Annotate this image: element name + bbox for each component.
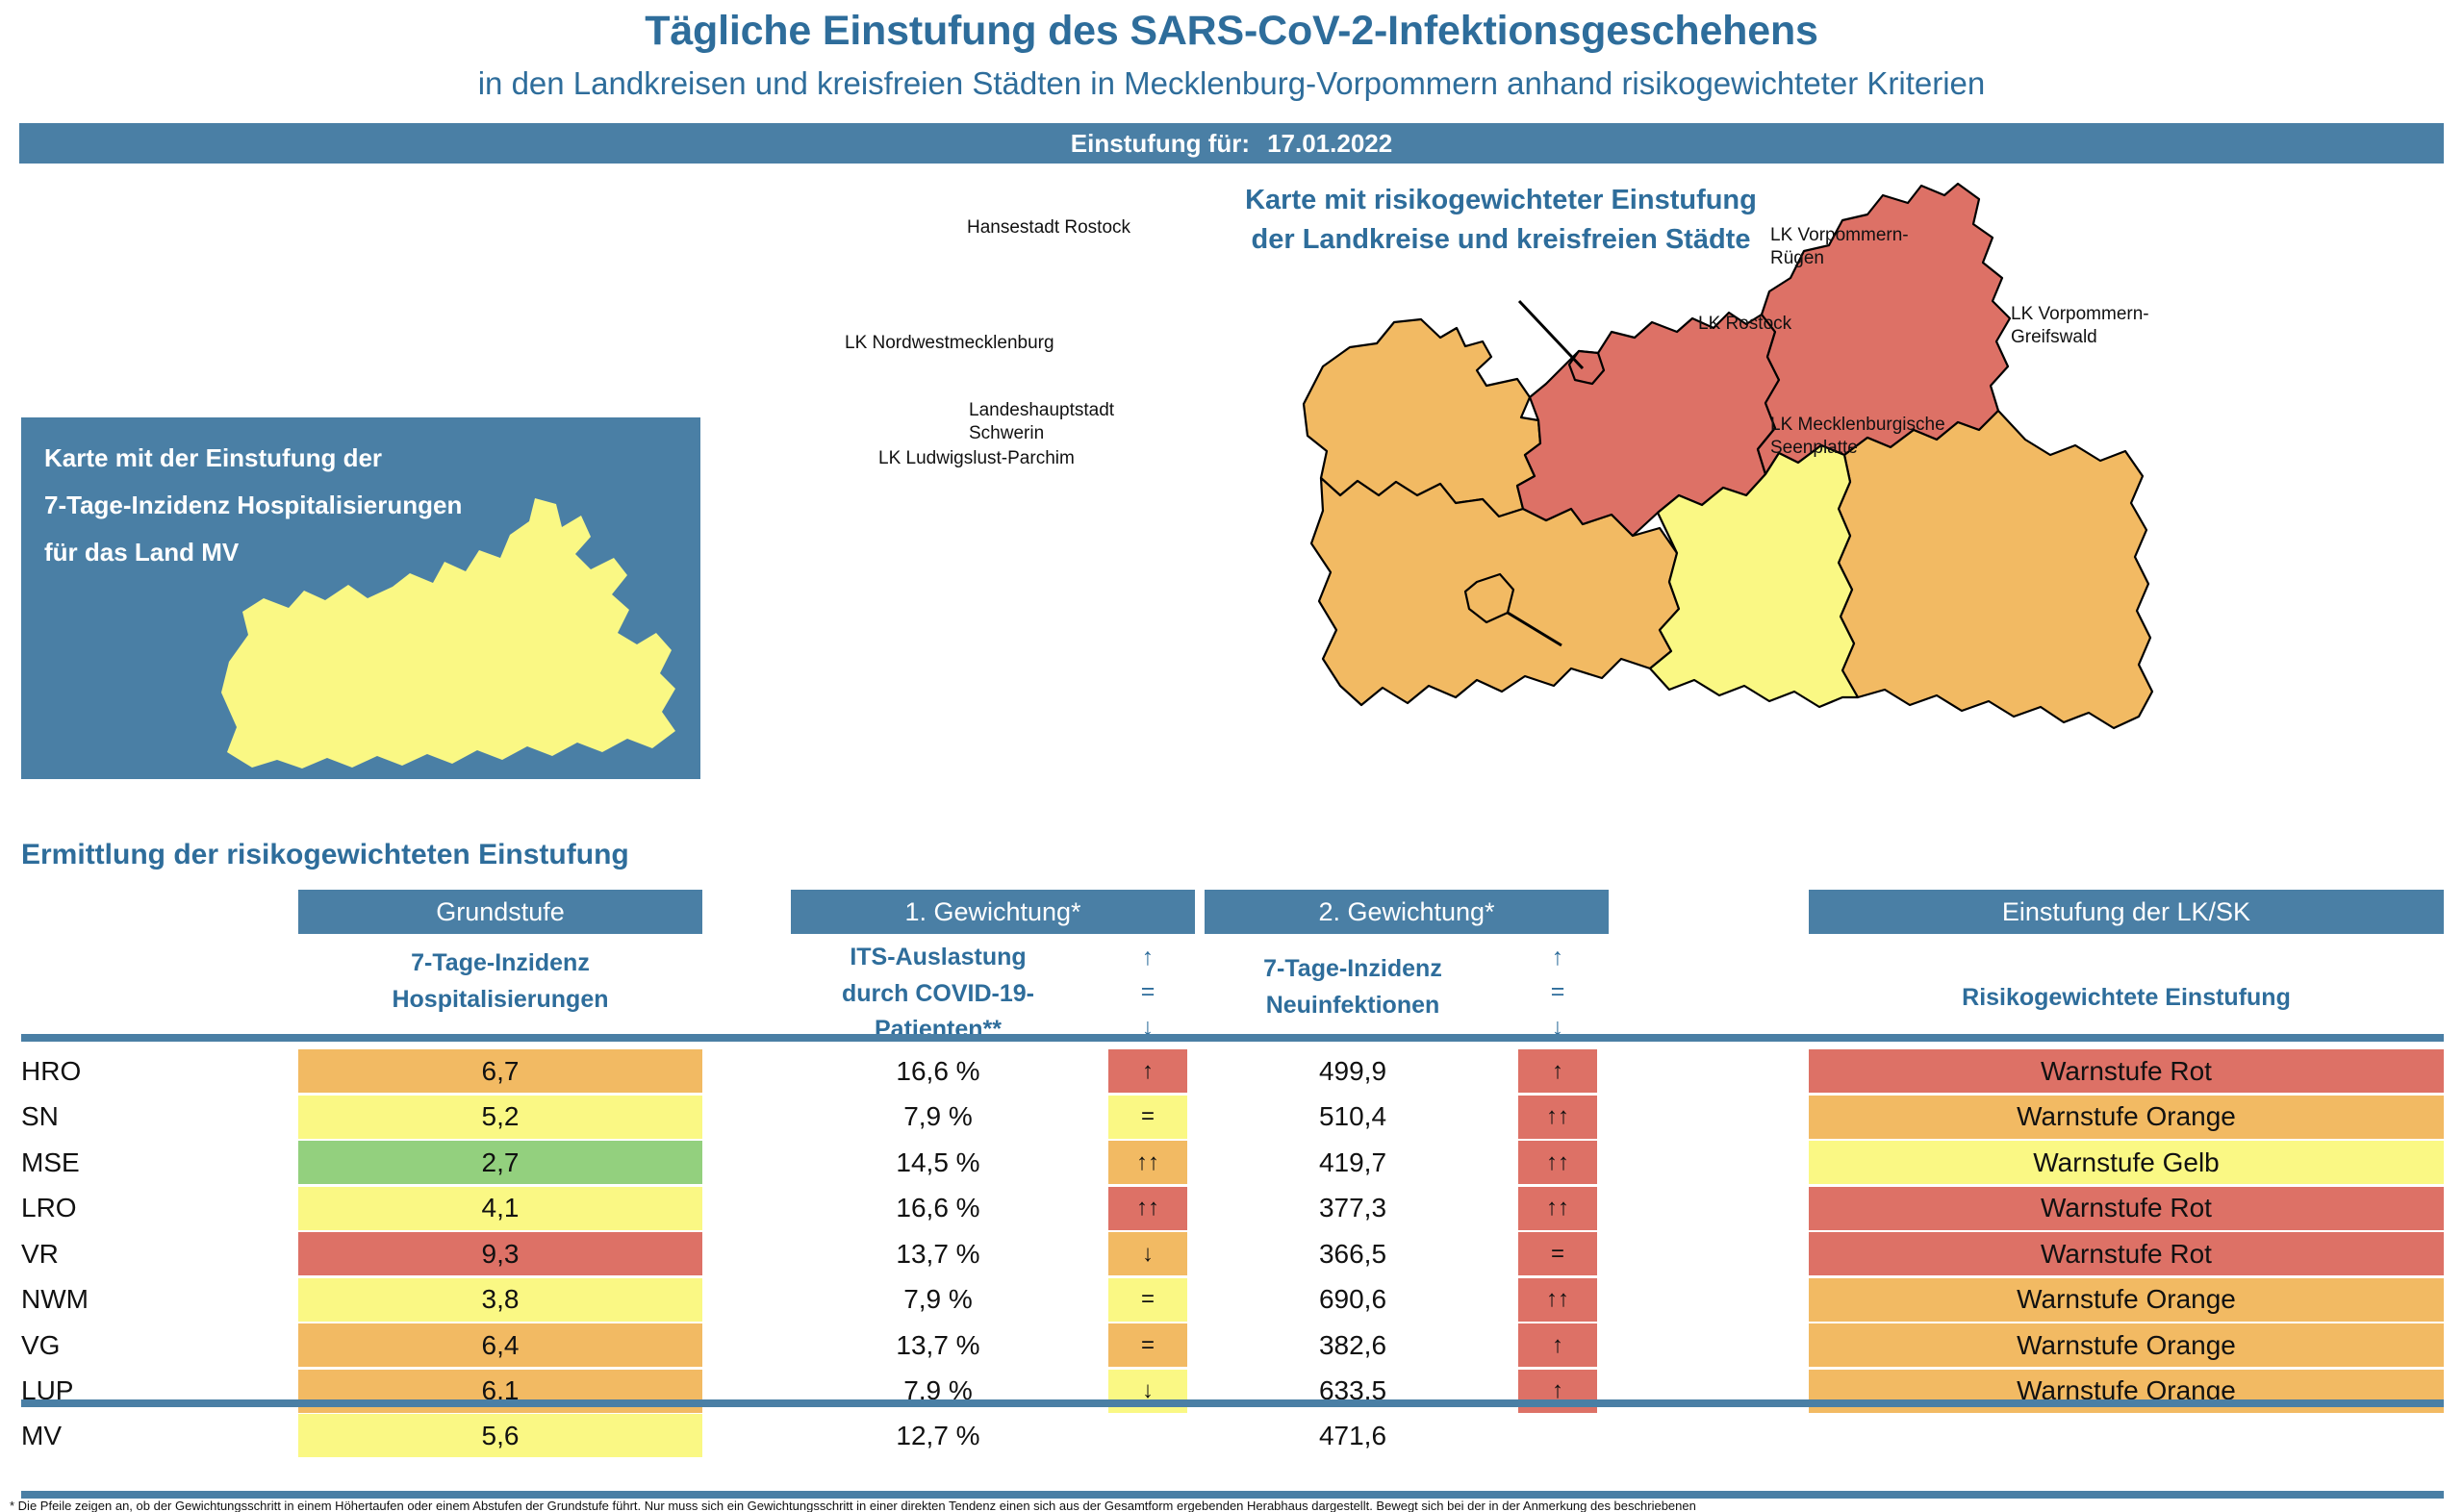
arrow-key-eq-2: = bbox=[1518, 974, 1597, 1009]
page-subtitle: in den Landkreisen und kreisfreien Städt… bbox=[0, 65, 2463, 102]
cell-incidence-arrow: ↑ bbox=[1518, 1323, 1597, 1367]
total-row-hospitalisation: 5,6 bbox=[298, 1414, 702, 1457]
map-label-vorpommern-greifswald: LK Vorpommern- Greifswald bbox=[2011, 303, 2149, 349]
cell-its-value: 13,7 % bbox=[799, 1323, 1078, 1367]
cell-incidence-arrow: ↑↑ bbox=[1518, 1278, 1597, 1322]
col-header-grundstufe: Grundstufe bbox=[298, 890, 702, 934]
cell-hospitalisation: 6,4 bbox=[298, 1323, 702, 1367]
total-row-label: MV bbox=[21, 1414, 62, 1457]
map-label-mecklenburgische-seenplatte: LK Mecklenburgische Seenplatte bbox=[1770, 414, 1945, 460]
col-header-gewichtung-1: 1. Gewichtung* bbox=[791, 890, 1195, 934]
subheader-its-line2: durch COVID-19- bbox=[799, 976, 1078, 1013]
cell-warning-level: Warnstufe Rot bbox=[1809, 1049, 2444, 1093]
cell-hospitalisation: 4,1 bbox=[298, 1187, 702, 1230]
row-label: LRO bbox=[21, 1187, 77, 1230]
footnote: * Die Pfeile zeigen an, ob der Gewichtun… bbox=[10, 1499, 2453, 1512]
map-label-schwerin: Landeshauptstadt Schwerin bbox=[969, 399, 1114, 445]
cell-incidence-value: 499,9 bbox=[1208, 1049, 1497, 1093]
row-label: NWM bbox=[21, 1278, 89, 1322]
map-label-ludwigslust-parchim: LK Ludwigslust-Parchim bbox=[878, 447, 1075, 470]
date-value: 17.01.2022 bbox=[1267, 129, 1392, 159]
row-label: MSE bbox=[21, 1141, 80, 1184]
mv-state-shape bbox=[204, 491, 695, 769]
cell-warning-level: Warnstufe Rot bbox=[1809, 1232, 2444, 1275]
poster-root: Tägliche Einstufung des SARS-CoV-2-Infek… bbox=[0, 0, 2463, 1512]
cell-incidence-value: 419,7 bbox=[1208, 1141, 1497, 1184]
date-label: Einstufung für: bbox=[1071, 129, 1250, 159]
subheader-grundstufe: 7-Tage-Inzidenz Hospitalisierungen bbox=[298, 945, 702, 1018]
subheader-grundstufe-line2: Hospitalisierungen bbox=[298, 982, 702, 1019]
callout-line-rostock bbox=[1519, 301, 1583, 368]
table-rule-mid bbox=[21, 1399, 2444, 1407]
map-label-lk-rostock: LK Rostock bbox=[1698, 313, 1791, 336]
cell-its-arrow: ↑ bbox=[1108, 1049, 1187, 1093]
cell-its-value: 16,6 % bbox=[799, 1049, 1078, 1093]
cell-its-value: 7,9 % bbox=[799, 1278, 1078, 1322]
cell-its-arrow: = bbox=[1108, 1323, 1187, 1367]
col-header-gewichtung-2: 2. Gewichtung* bbox=[1205, 890, 1609, 934]
row-label: VG bbox=[21, 1323, 60, 1367]
cell-warning-level: Warnstufe Gelb bbox=[1809, 1141, 2444, 1184]
hospitalisation-map-panel: Karte mit der Einstufung der 7-Tage-Inzi… bbox=[21, 417, 700, 779]
cell-warning-level: Warnstufe Orange bbox=[1809, 1096, 2444, 1139]
subheader-grundstufe-line1: 7-Tage-Inzidenz bbox=[298, 945, 702, 982]
cell-incidence-value: 382,6 bbox=[1208, 1323, 1497, 1367]
cell-incidence-arrow: ↑ bbox=[1518, 1049, 1597, 1093]
total-row-its: 12,7 % bbox=[799, 1414, 1078, 1457]
cell-its-arrow: = bbox=[1108, 1278, 1187, 1322]
subheader-its-line1: ITS-Auslastung bbox=[799, 940, 1078, 976]
row-label: SN bbox=[21, 1096, 59, 1139]
total-row-incidence: 471,6 bbox=[1208, 1414, 1497, 1457]
table-rule-top bbox=[21, 1034, 2444, 1042]
map-label-nordwestmecklenburg: LK Nordwestmecklenburg bbox=[845, 332, 1054, 355]
cell-incidence-arrow: ↑↑ bbox=[1518, 1096, 1597, 1139]
page-title: Tägliche Einstufung des SARS-CoV-2-Infek… bbox=[0, 8, 2463, 55]
mv-outline bbox=[221, 498, 675, 769]
date-bar: Einstufung für: 17.01.2022 bbox=[19, 123, 2444, 164]
cell-its-arrow: ↓ bbox=[1108, 1232, 1187, 1275]
arrow-key-gew2: ↑ = ↓ bbox=[1518, 940, 1597, 1045]
row-label: HRO bbox=[21, 1049, 81, 1093]
cell-hospitalisation: 6,7 bbox=[298, 1049, 702, 1093]
subheader-neuinfektionen: 7-Tage-Inzidenz Neuinfektionen bbox=[1208, 951, 1497, 1023]
cell-incidence-value: 377,3 bbox=[1208, 1187, 1497, 1230]
hospitalisation-map-title-line1: Karte mit der Einstufung der bbox=[44, 435, 641, 482]
cell-warning-level: Warnstufe Rot bbox=[1809, 1187, 2444, 1230]
arrow-key-gew1: ↑ = ↓ bbox=[1108, 940, 1187, 1045]
subheader-risikogewichtete-einstufung: Risikogewichtete Einstufung bbox=[1809, 980, 2444, 1017]
cell-incidence-arrow: ↑↑ bbox=[1518, 1187, 1597, 1230]
cell-hospitalisation: 9,3 bbox=[298, 1232, 702, 1275]
subheader-its-line3: Patienten** bbox=[799, 1012, 1078, 1048]
cell-hospitalisation: 5,2 bbox=[298, 1096, 702, 1139]
cell-hospitalisation: 2,7 bbox=[298, 1141, 702, 1184]
cell-warning-level: Warnstufe Orange bbox=[1809, 1323, 2444, 1367]
cell-hospitalisation: 3,8 bbox=[298, 1278, 702, 1322]
subheader-its: ITS-Auslastung durch COVID-19- Patienten… bbox=[799, 940, 1078, 1048]
cell-incidence-value: 366,5 bbox=[1208, 1232, 1497, 1275]
cell-its-value: 14,5 % bbox=[799, 1141, 1078, 1184]
arrow-key-eq-1: = bbox=[1108, 974, 1187, 1009]
cell-its-value: 16,6 % bbox=[799, 1187, 1078, 1230]
map-label-hansestadt-rostock: Hansestadt Rostock bbox=[967, 216, 1130, 239]
table-rule-bottom bbox=[21, 1491, 2444, 1499]
subheader-neuinf-line2: Neuinfektionen bbox=[1208, 988, 1497, 1024]
cell-its-arrow: ↑↑ bbox=[1108, 1187, 1187, 1230]
arrow-key-up-2: ↑ bbox=[1518, 940, 1597, 974]
cell-incidence-value: 510,4 bbox=[1208, 1096, 1497, 1139]
map-label-vorpommern-ruegen: LK Vorpommern- Rügen bbox=[1770, 224, 1909, 270]
cell-its-value: 13,7 % bbox=[799, 1232, 1078, 1275]
subheader-neuinf-line1: 7-Tage-Inzidenz bbox=[1208, 951, 1497, 988]
risk-map: Hansestadt Rostock LK Vorpommern- Rügen … bbox=[1294, 178, 2463, 832]
row-label: VR bbox=[21, 1232, 59, 1275]
cell-incidence-arrow: ↑↑ bbox=[1518, 1141, 1597, 1184]
col-header-einstufung: Einstufung der LK/SK bbox=[1809, 890, 2444, 934]
section-heading: Ermittlung der risikogewichteten Einstuf… bbox=[21, 839, 629, 871]
cell-its-arrow: ↑↑ bbox=[1108, 1141, 1187, 1184]
cell-incidence-arrow: = bbox=[1518, 1232, 1597, 1275]
cell-incidence-value: 690,6 bbox=[1208, 1278, 1497, 1322]
region-nwm bbox=[1304, 319, 1540, 517]
arrow-key-up-1: ↑ bbox=[1108, 940, 1187, 974]
cell-its-arrow: = bbox=[1108, 1096, 1187, 1139]
cell-warning-level: Warnstufe Orange bbox=[1809, 1278, 2444, 1322]
cell-its-value: 7,9 % bbox=[799, 1096, 1078, 1139]
